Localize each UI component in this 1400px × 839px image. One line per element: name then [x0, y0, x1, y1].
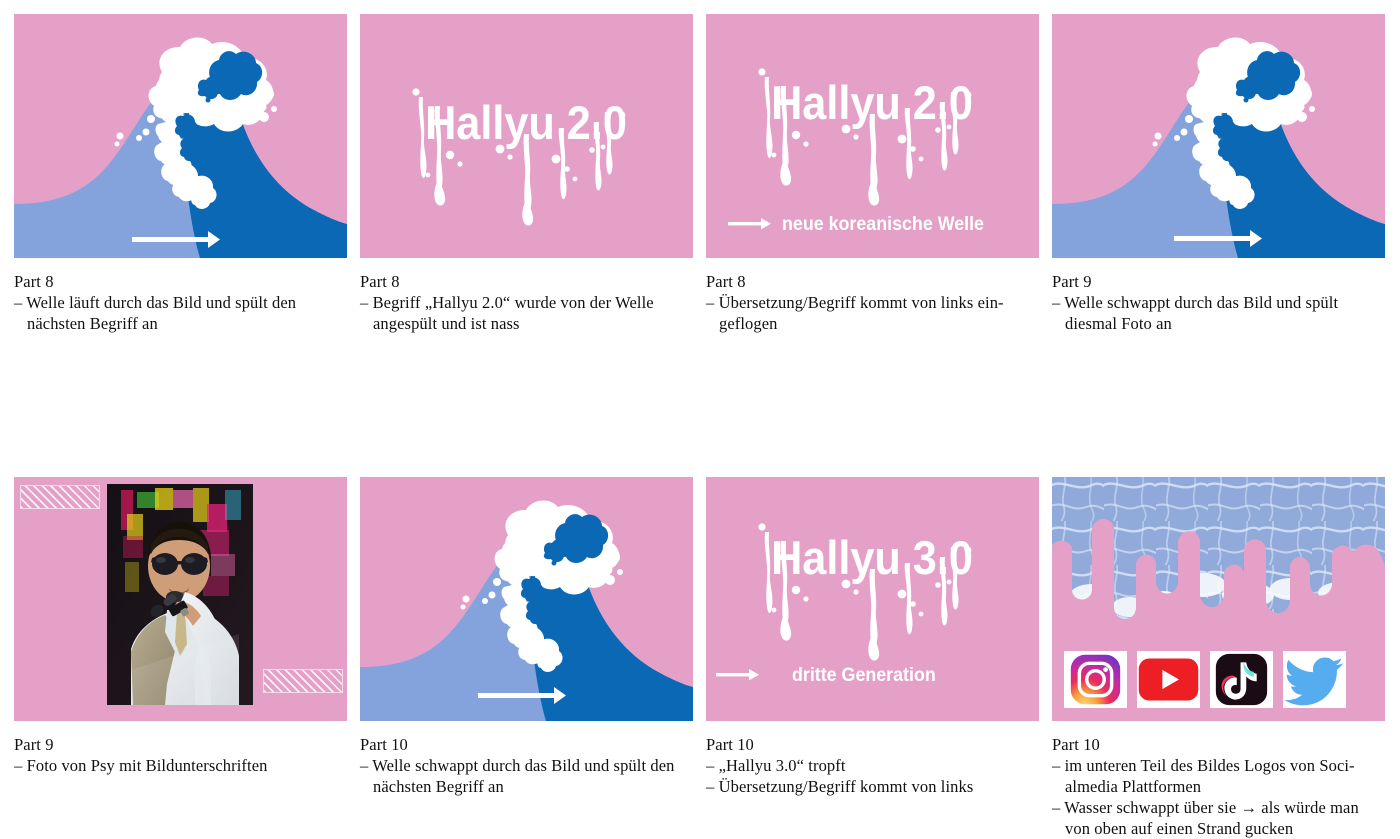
- drip-title-illustration: Hallyu 2.0: [360, 14, 693, 258]
- caption-line: – im unteren Teil des Bildes Logos von S…: [1052, 755, 1385, 797]
- caption-part: Part 8: [360, 271, 693, 292]
- psy-photo: [107, 484, 253, 705]
- wave-illustration: [1052, 14, 1385, 258]
- panel-drip-title-hallyu20-a: Hallyu 2.0: [360, 14, 693, 258]
- drip-title-text: Hallyu 2.0: [425, 96, 627, 149]
- caption-line: – Welle schwappt durch das Bild und spül…: [360, 755, 693, 797]
- twitter-bird-icon: [1283, 651, 1346, 708]
- caption-block: Part 10 – „Hallyu 3.0“ tropft – Übersetz…: [706, 734, 1039, 797]
- drip-title-text: Hallyu 3.0: [771, 531, 973, 584]
- caption-line: – Welle läuft durch das Bild und spült d…: [14, 292, 347, 334]
- drip-title-text: Hallyu 2.0: [771, 76, 973, 129]
- storyboard-cell: Part 9 – Welle schwappt durch das Bild u…: [1052, 14, 1385, 334]
- panel-psy-photo: [14, 477, 347, 721]
- caption-part: Part 10: [1052, 734, 1385, 755]
- caption-line: – Wasser schwappt über sie → als würde m…: [1052, 797, 1385, 839]
- panel-drip-title-hallyu30: Hallyu 3.0 dritte Generation: [706, 477, 1039, 721]
- social-logo-row: [1064, 651, 1346, 708]
- drip-title-illustration: Hallyu 2.0 neue koreanische Welle: [706, 14, 1039, 258]
- psy-photo-image: [107, 484, 253, 705]
- wave-illustration: [360, 477, 693, 721]
- caption-line: – Begriff „Hallyu 2.0“ wurde von der Wel…: [360, 292, 693, 334]
- caption-block: Part 9 – Welle schwappt durch das Bild u…: [1052, 271, 1385, 334]
- drip-subtitle-text: dritte Generation: [792, 663, 936, 685]
- caption-block: Part 9 – Foto von Psy mit Bildunterschri…: [14, 734, 347, 776]
- caption-line: – „Hallyu 3.0“ tropft: [706, 755, 1039, 776]
- caption-part: Part 8: [14, 271, 347, 292]
- storyboard-cell: Part 8 – Welle läuft durch das Bild und …: [14, 14, 347, 334]
- panel-wave-1: [14, 14, 347, 258]
- youtube-icon: [1137, 651, 1200, 708]
- panel-drip-title-hallyu20-b: Hallyu 2.0 neue koreanische Welle: [706, 14, 1039, 258]
- caption-part: Part 10: [706, 734, 1039, 755]
- twitter-logo[interactable]: [1283, 651, 1346, 708]
- caption-line: – Übersetzung/Begriff kommt von links: [706, 776, 1039, 797]
- caption-line: – Welle schwappt durch das Bild und spül…: [1052, 292, 1385, 334]
- drip-title-illustration: Hallyu 3.0 dritte Generation: [706, 477, 1039, 721]
- panel-wave-2: [1052, 14, 1385, 258]
- storyboard-grid: Part 8 – Welle läuft durch das Bild und …: [14, 14, 1386, 839]
- caption-line: – Übersetzung/Begriff kommt von links ei…: [706, 292, 1039, 334]
- caption-placeholder-top: [20, 485, 100, 509]
- panel-social-logos: [1052, 477, 1385, 721]
- drip-subtitle-text: neue koreanische Welle: [782, 212, 984, 234]
- storyboard-cell: Part 10 – im unteren Teil des Bildes Log…: [1052, 477, 1385, 839]
- panel-wave-3: [360, 477, 693, 721]
- instagram-logo[interactable]: [1064, 651, 1127, 708]
- instagram-icon: [1064, 651, 1127, 708]
- wave-illustration: [14, 14, 347, 258]
- caption-block: Part 10 – Welle schwappt durch das Bild …: [360, 734, 693, 797]
- caption-placeholder-bottom: [263, 669, 343, 693]
- caption-block: Part 8 – Begriff „Hallyu 2.0“ wurde von …: [360, 271, 693, 334]
- youtube-logo[interactable]: [1137, 651, 1200, 708]
- tiktok-icon: [1210, 651, 1273, 708]
- tiktok-logo[interactable]: [1210, 651, 1273, 708]
- caption-block: Part 8 – Welle läuft durch das Bild und …: [14, 271, 347, 334]
- storyboard-cell: Hallyu 2.0 Part 8 – Begriff „Hallyu 2.0“…: [360, 14, 693, 334]
- storyboard-cell: Hallyu 2.0 neue koreanische Welle Part 8…: [706, 14, 1039, 334]
- storyboard-cell: Hallyu 3.0 dritte Generation Part 10 – „…: [706, 477, 1039, 839]
- caption-part: Part 9: [1052, 271, 1385, 292]
- storyboard-cell: Part 9 – Foto von Psy mit Bildunterschri…: [14, 477, 347, 839]
- storyboard-cell: Part 10 – Welle schwappt durch das Bild …: [360, 477, 693, 839]
- caption-block: Part 10 – im unteren Teil des Bildes Log…: [1052, 734, 1385, 839]
- caption-part: Part 9: [14, 734, 347, 755]
- caption-block: Part 8 – Übersetzung/Begriff kommt von l…: [706, 271, 1039, 334]
- caption-line: – Foto von Psy mit Bildunterschriften: [14, 755, 347, 776]
- caption-part: Part 10: [360, 734, 693, 755]
- caption-part: Part 8: [706, 271, 1039, 292]
